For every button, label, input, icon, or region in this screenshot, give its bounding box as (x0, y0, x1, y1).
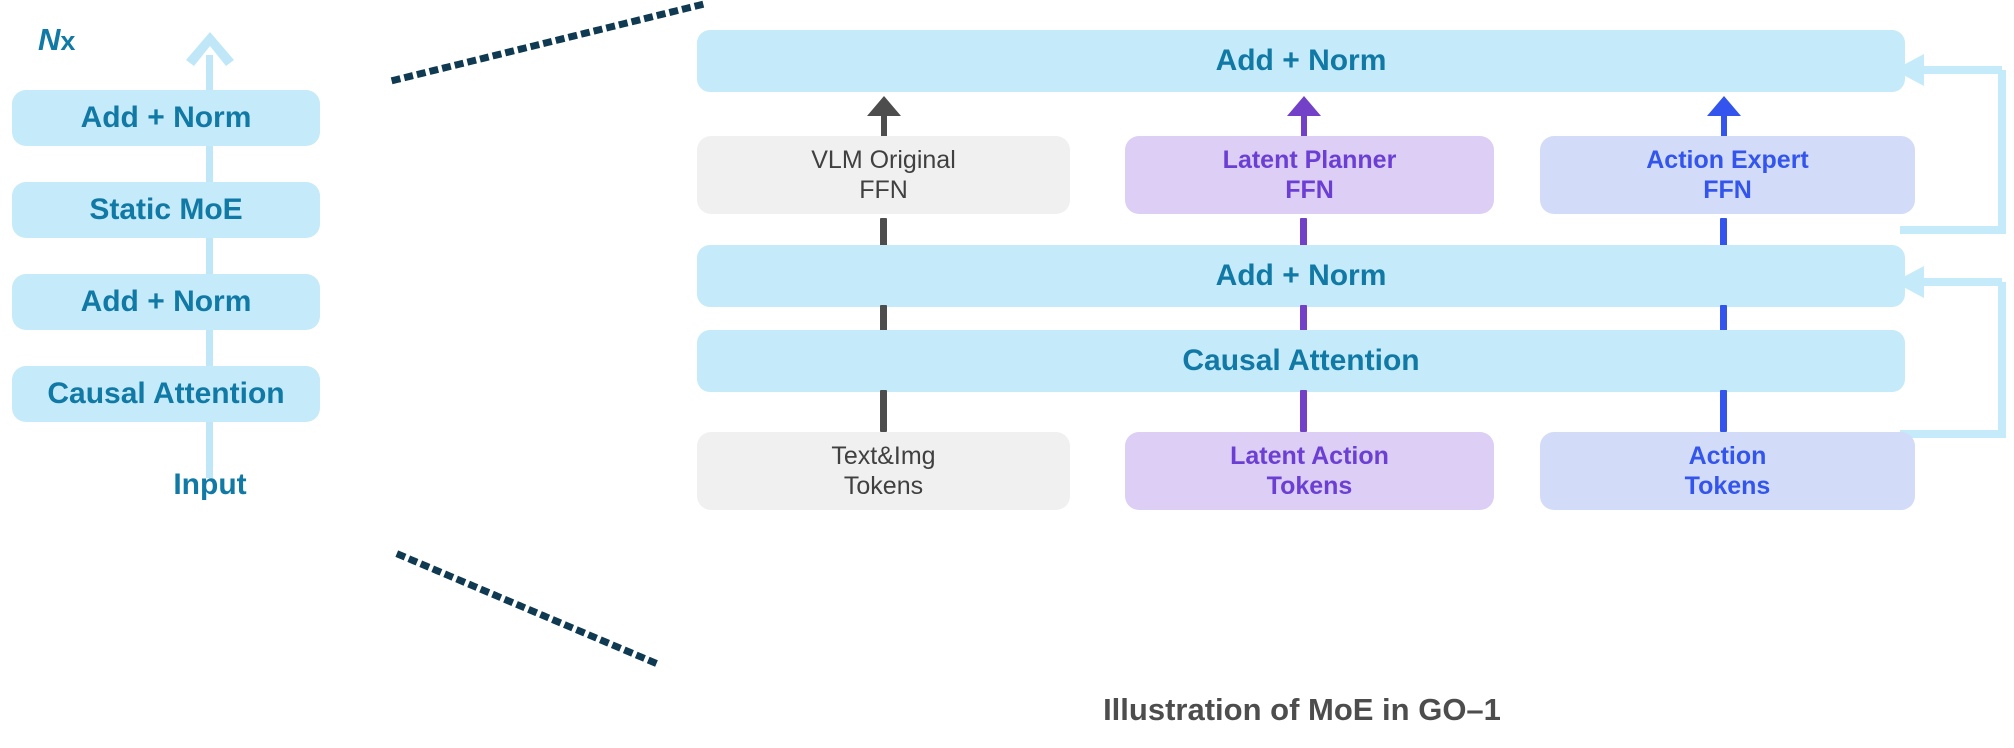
expert-label-line1: Latent Planner (1223, 145, 1397, 176)
token-box-text-img-tokens[interactable]: Text&Img Tokens (697, 432, 1070, 510)
right-band-label: Add + Norm (1216, 258, 1387, 295)
guide-line-bottom (400, 555, 660, 665)
figure-caption: Illustration of MoE in GO–1 (707, 692, 1897, 728)
expert-box-latent-planner-ffn[interactable]: Latent Planner FFN (1125, 136, 1494, 214)
left-block-add-norm-bottom[interactable]: Add + Norm (12, 274, 320, 330)
left-block-add-norm-top[interactable]: Add + Norm (12, 90, 320, 146)
left-repeat-label: Nx (38, 22, 75, 58)
token-label-line2: Tokens (844, 471, 923, 502)
left-flow-arrow-icon (182, 30, 238, 76)
token-box-action-tokens[interactable]: Action Tokens (1540, 432, 1915, 510)
expert-label-line1: Action Expert (1646, 145, 1809, 176)
expert-box-vlm-original-ffn[interactable]: VLM Original FFN (697, 136, 1070, 214)
right-band-add-norm-top[interactable]: Add + Norm (697, 30, 1905, 92)
left-repeat-label-n: N (38, 22, 60, 57)
expert-label-line1: VLM Original (811, 145, 956, 176)
residual-connection-lower (1890, 248, 2014, 448)
left-block-label: Add + Norm (81, 100, 252, 137)
left-block-label: Static MoE (89, 192, 242, 229)
expert-label-line2: FFN (1285, 175, 1334, 206)
token-label-line1: Text&Img (831, 441, 935, 472)
left-block-causal-attention[interactable]: Causal Attention (12, 366, 320, 422)
expert-label-line2: FFN (859, 175, 908, 206)
right-band-label: Add + Norm (1216, 43, 1387, 80)
diagram-canvas: Nx Add + Norm Static MoE Add + Norm Caus… (0, 0, 2014, 748)
token-label-line2: Tokens (1267, 471, 1353, 502)
left-input-label: Input (60, 468, 360, 502)
left-block-label: Add + Norm (81, 284, 252, 321)
guide-line-top (395, 5, 700, 80)
left-block-label: Causal Attention (47, 376, 284, 413)
token-label-line1: Latent Action (1230, 441, 1389, 472)
right-band-add-norm-middle[interactable]: Add + Norm (697, 245, 1905, 307)
connector-latentaction-tokens-to-attention (1300, 390, 1307, 432)
left-block-static-moe[interactable]: Static MoE (12, 182, 320, 238)
token-label-line1: Action (1689, 441, 1767, 472)
connector-textimg-tokens-to-attention (880, 390, 887, 432)
expert-box-action-expert-ffn[interactable]: Action Expert FFN (1540, 136, 1915, 214)
right-band-causal-attention[interactable]: Causal Attention (697, 330, 1905, 392)
left-repeat-label-x: x (60, 26, 75, 56)
token-box-latent-action-tokens[interactable]: Latent Action Tokens (1125, 432, 1494, 510)
expert-label-line2: FFN (1703, 175, 1752, 206)
right-band-label: Causal Attention (1182, 343, 1419, 380)
connector-action-tokens-to-attention (1720, 390, 1727, 432)
token-label-line2: Tokens (1685, 471, 1771, 502)
